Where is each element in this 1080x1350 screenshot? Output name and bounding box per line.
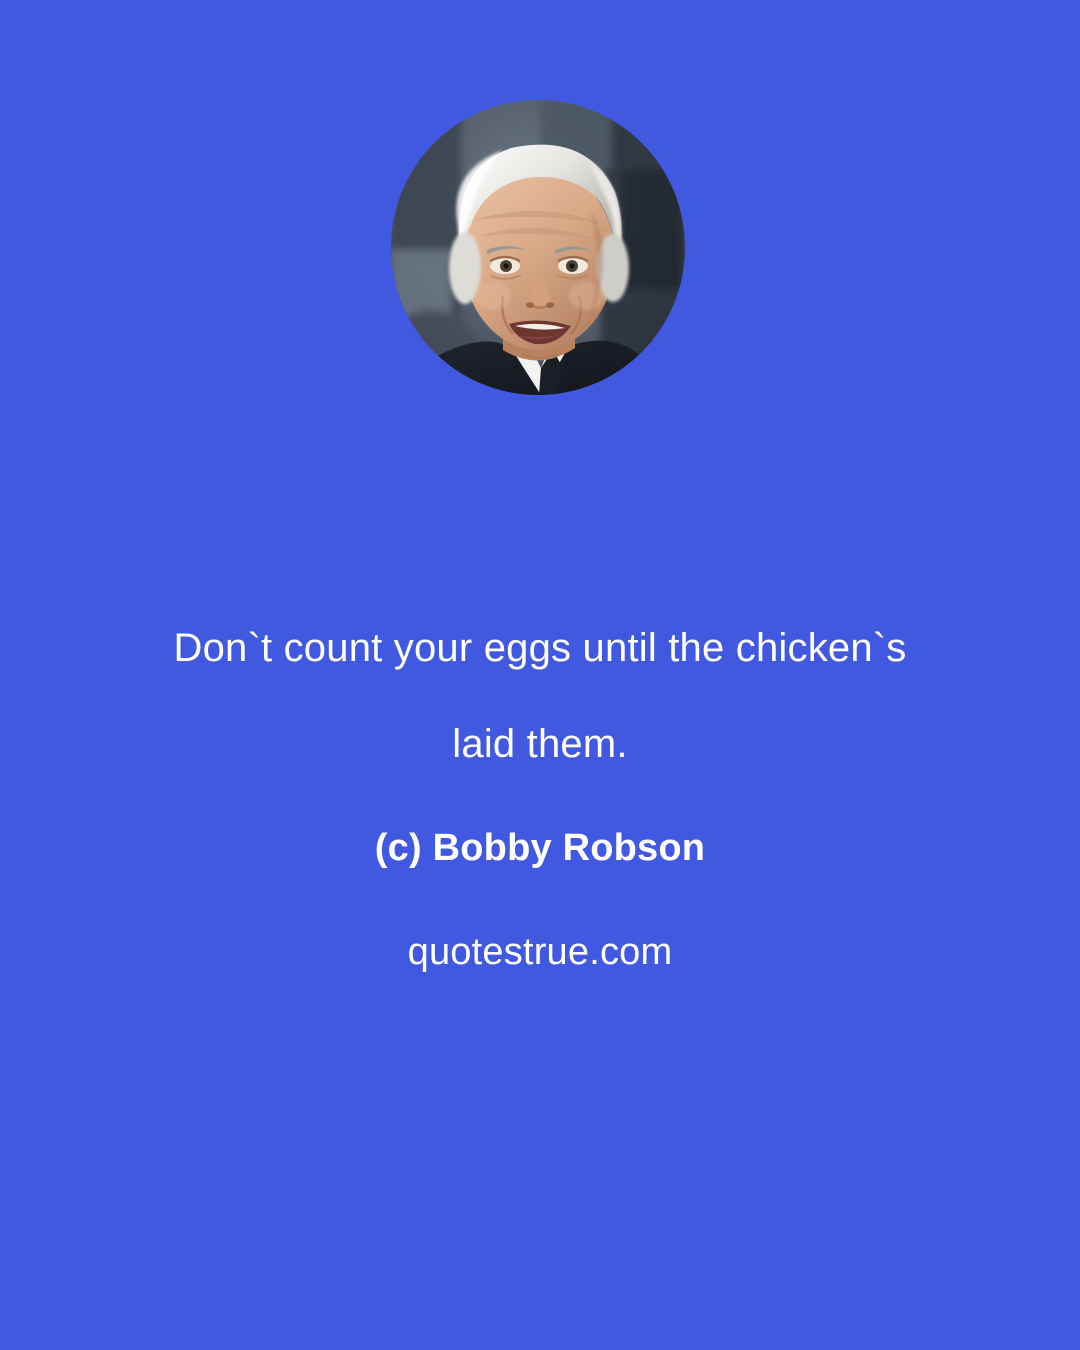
author-portrait-photo: [391, 100, 685, 395]
quote-text-block: Don`t count your eggs until the chicken`…: [0, 600, 1080, 975]
quote-line-1: Don`t count your eggs until the chicken`…: [60, 600, 1020, 696]
author-portrait: [391, 100, 685, 395]
author-attribution: (c) Bobby Robson: [0, 826, 1080, 872]
site-watermark: quotestrue.com: [0, 930, 1080, 976]
quote-card: Don`t count your eggs until the chicken`…: [0, 0, 1080, 1350]
quote-line-2: laid them.: [60, 696, 1020, 792]
